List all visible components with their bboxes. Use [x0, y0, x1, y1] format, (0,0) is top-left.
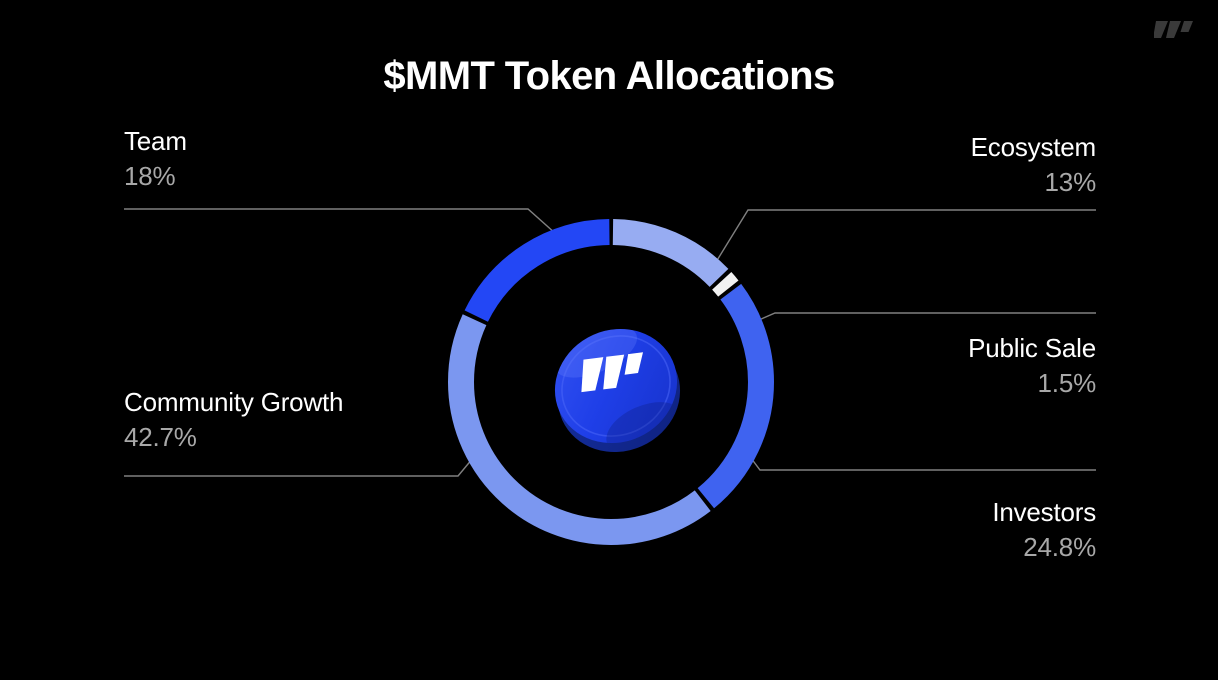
callout-community-growth-label: Community Growth: [124, 385, 343, 419]
chart-canvas: $MMT Token Allocations: [0, 0, 1218, 680]
leader-line-investors: [742, 446, 1096, 470]
callout-team-label: Team: [124, 124, 187, 158]
callout-public-sale-label: Public Sale: [968, 331, 1096, 365]
callout-team: Team 18%: [124, 124, 187, 194]
callout-team-value: 18%: [124, 158, 187, 194]
callout-investors: Investors 24.8%: [992, 495, 1096, 565]
leader-line-team: [124, 209, 565, 242]
callout-community-growth: Community Growth 42.7%: [124, 385, 343, 455]
callout-public-sale: Public Sale 1.5%: [968, 331, 1096, 401]
mmt-coin-icon: [540, 318, 692, 458]
leader-line-ecosystem: [716, 210, 1096, 262]
callout-investors-value: 24.8%: [992, 529, 1096, 565]
callout-ecosystem-value: 13%: [971, 164, 1096, 200]
callout-investors-label: Investors: [992, 495, 1096, 529]
callout-public-sale-value: 1.5%: [968, 365, 1096, 401]
callout-community-growth-value: 42.7%: [124, 419, 343, 455]
callout-ecosystem-label: Ecosystem: [971, 130, 1096, 164]
leader-line-community-growth: [124, 452, 478, 476]
leader-line-public-sale: [752, 313, 1096, 323]
callout-ecosystem: Ecosystem 13%: [971, 130, 1096, 200]
